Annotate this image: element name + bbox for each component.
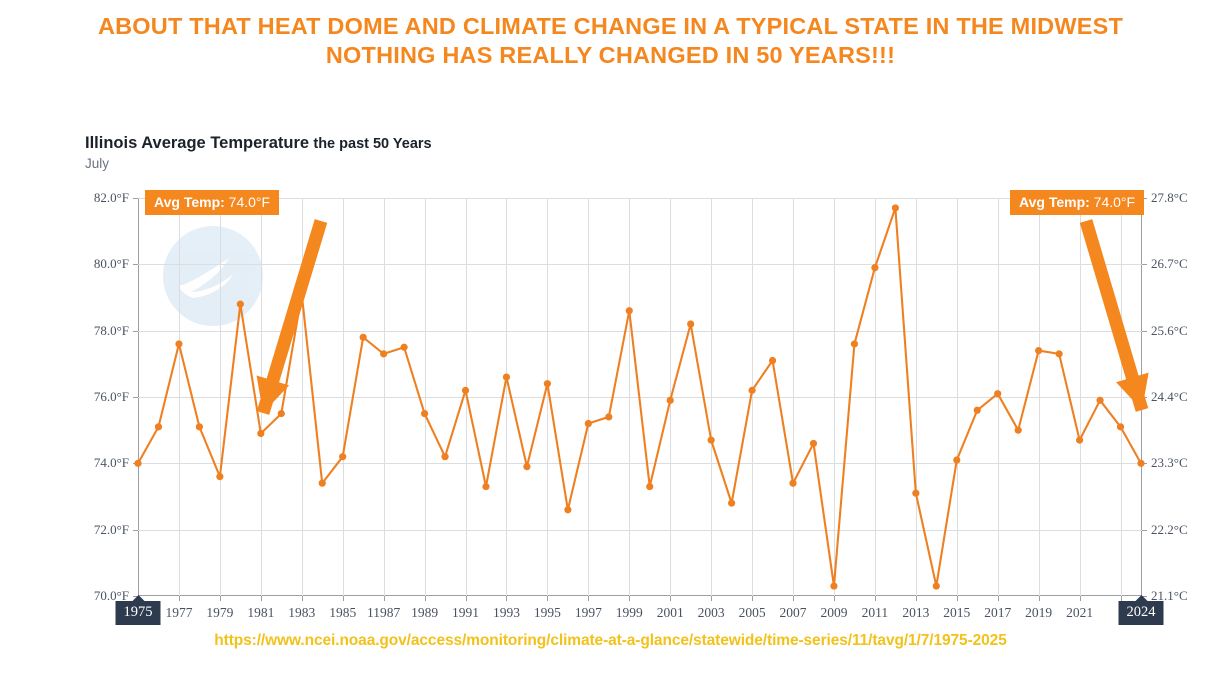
- data-point[interactable]: [585, 420, 592, 427]
- x-highlight-label-text: 2024: [1127, 604, 1156, 620]
- x-tick: [834, 596, 835, 601]
- data-point[interactable]: [544, 380, 551, 387]
- data-point[interactable]: [994, 390, 1001, 397]
- annotation-badge-left: Avg Temp: 74.0°F: [145, 190, 279, 215]
- headline-banner: ABOUT THAT HEAT DOME AND CLIMATE CHANGE …: [0, 0, 1221, 70]
- x-axis-label: 1999: [616, 605, 643, 621]
- x-axis-label: 1989: [411, 605, 438, 621]
- y-axis-label-left: 72.0°F: [94, 522, 129, 538]
- data-point[interactable]: [892, 204, 899, 211]
- x-tick: [302, 596, 303, 601]
- x-axis-label: 2013: [902, 605, 929, 621]
- x-axis-label: 1997: [575, 605, 602, 621]
- x-tick: [793, 596, 794, 601]
- y-axis-label-left: 76.0°F: [94, 389, 129, 405]
- x-tick: [752, 596, 753, 601]
- x-tick: [1080, 596, 1081, 601]
- data-point[interactable]: [360, 334, 367, 341]
- annotation-key: Avg Temp:: [1019, 194, 1090, 210]
- data-point[interactable]: [482, 483, 489, 490]
- data-point[interactable]: [974, 407, 981, 414]
- data-point[interactable]: [257, 430, 264, 437]
- x-axis-label: 1993: [493, 605, 520, 621]
- data-point[interactable]: [278, 410, 285, 417]
- data-point[interactable]: [216, 473, 223, 480]
- data-point[interactable]: [155, 423, 162, 430]
- x-tick: [261, 596, 262, 601]
- data-point[interactable]: [1035, 347, 1042, 354]
- x-axis-label: 1981: [247, 605, 274, 621]
- data-point[interactable]: [319, 480, 326, 487]
- data-point[interactable]: [646, 483, 653, 490]
- data-point[interactable]: [605, 413, 612, 420]
- data-point[interactable]: [953, 456, 960, 463]
- y-tick-right: [1142, 264, 1147, 265]
- chart-title-main: Illinois Average Temperature: [85, 134, 309, 152]
- x-tick: [629, 596, 630, 601]
- data-point[interactable]: [401, 344, 408, 351]
- data-point[interactable]: [564, 506, 571, 513]
- x-tick: [711, 596, 712, 601]
- data-point[interactable]: [380, 350, 387, 357]
- y-axis-label-right: 24.4°C: [1151, 389, 1188, 405]
- data-point[interactable]: [1056, 350, 1063, 357]
- data-point[interactable]: [462, 387, 469, 394]
- x-axis-label: 2007: [780, 605, 807, 621]
- x-tick: [1039, 596, 1040, 601]
- x-axis-label: 2009: [820, 605, 847, 621]
- x-tick: [875, 596, 876, 601]
- x-highlight-label-start: 1975: [116, 601, 161, 625]
- x-axis-label: 1991: [452, 605, 479, 621]
- annotation-arrow-right: [1086, 221, 1149, 410]
- x-tick: [425, 596, 426, 601]
- y-axis-label-left: 74.0°F: [94, 455, 129, 471]
- plot-area: 70.0°F21.1°C72.0°F22.2°C74.0°F23.3°C76.0…: [138, 198, 1142, 596]
- y-axis-label-right: 26.7°C: [1151, 256, 1188, 272]
- chart-title: Illinois Average Temperature the past 50…: [85, 134, 432, 153]
- x-tick: [466, 596, 467, 601]
- data-point[interactable]: [748, 387, 755, 394]
- x-axis-label: 2005: [739, 605, 766, 621]
- x-axis-label: 2015: [943, 605, 970, 621]
- data-point[interactable]: [441, 453, 448, 460]
- data-point[interactable]: [769, 357, 776, 364]
- data-point[interactable]: [667, 397, 674, 404]
- data-point[interactable]: [1117, 423, 1124, 430]
- chart-subtitle: July: [85, 156, 109, 171]
- y-axis-label-left: 80.0°F: [94, 256, 129, 272]
- headline-line-2: NOTHING HAS REALLY CHANGED IN 50 YEARS!!…: [10, 41, 1211, 70]
- x-tick: [670, 596, 671, 601]
- x-tick: [957, 596, 958, 601]
- data-point[interactable]: [1076, 437, 1083, 444]
- data-point[interactable]: [196, 423, 203, 430]
- data-point[interactable]: [237, 301, 244, 308]
- x-tick: [343, 596, 344, 601]
- series-line: [138, 208, 1141, 586]
- x-tick: [179, 596, 180, 601]
- x-highlight-label-end: 2024: [1119, 601, 1164, 625]
- data-point[interactable]: [728, 500, 735, 507]
- y-axis-label-right: 27.8°C: [1151, 190, 1188, 206]
- x-axis-label: 11987: [367, 605, 400, 621]
- data-point[interactable]: [1015, 427, 1022, 434]
- x-axis-label: 2003: [698, 605, 725, 621]
- x-axis-label: 2011: [862, 605, 889, 621]
- data-point[interactable]: [523, 463, 530, 470]
- annotation-key: Avg Temp:: [154, 194, 225, 210]
- data-point[interactable]: [933, 582, 940, 589]
- chart-title-suffix: the past 50 Years: [313, 136, 431, 152]
- data-point[interactable]: [871, 264, 878, 271]
- x-tick: [506, 596, 507, 601]
- x-tick: [916, 596, 917, 601]
- y-axis-label-right: 23.3°C: [1151, 455, 1188, 471]
- x-axis-label: 1979: [206, 605, 233, 621]
- data-point[interactable]: [134, 460, 141, 467]
- data-point[interactable]: [1096, 397, 1103, 404]
- x-tick: [384, 596, 385, 601]
- chart-card: Illinois Average Temperature the past 50…: [0, 118, 1221, 608]
- data-point[interactable]: [687, 320, 694, 327]
- data-point[interactable]: [503, 374, 510, 381]
- x-axis-label: 2021: [1066, 605, 1093, 621]
- data-point[interactable]: [789, 480, 796, 487]
- x-tick: [998, 596, 999, 601]
- annotation-badge-right: Avg Temp: 74.0°F: [1010, 190, 1144, 215]
- x-axis-label: 2019: [1025, 605, 1052, 621]
- y-axis-label-left: 78.0°F: [94, 323, 129, 339]
- annotation-value: 74.0°F: [225, 194, 270, 210]
- annotation-value: 74.0°F: [1090, 194, 1135, 210]
- headline-line-1: ABOUT THAT HEAT DOME AND CLIMATE CHANGE …: [10, 12, 1211, 41]
- data-point[interactable]: [421, 410, 428, 417]
- y-axis-label-right: 22.2°C: [1151, 522, 1188, 538]
- data-point[interactable]: [830, 582, 837, 589]
- x-axis-label: 1983: [288, 605, 315, 621]
- y-tick-right: [1142, 331, 1147, 332]
- temperature-line-series: [138, 198, 1142, 596]
- data-point[interactable]: [708, 437, 715, 444]
- data-point[interactable]: [339, 453, 346, 460]
- x-tick: [588, 596, 589, 601]
- x-tick: [547, 596, 548, 601]
- x-highlight-label-text: 1975: [124, 604, 153, 620]
- data-point[interactable]: [1137, 460, 1144, 467]
- y-tick-right: [1142, 530, 1147, 531]
- x-axis-label: 2001: [657, 605, 684, 621]
- data-point[interactable]: [175, 340, 182, 347]
- data-point[interactable]: [851, 340, 858, 347]
- x-axis-label: 1995: [534, 605, 561, 621]
- data-point[interactable]: [912, 490, 919, 497]
- y-axis-label-right: 25.6°C: [1151, 323, 1188, 339]
- data-point[interactable]: [810, 440, 817, 447]
- source-url[interactable]: https://www.ncei.noaa.gov/access/monitor…: [0, 632, 1221, 650]
- y-axis-label-left: 82.0°F: [94, 190, 129, 206]
- x-tick: [220, 596, 221, 601]
- x-axis-label: 1985: [329, 605, 356, 621]
- x-axis-label: 2017: [984, 605, 1011, 621]
- data-point[interactable]: [626, 307, 633, 314]
- x-axis-label: 1977: [165, 605, 192, 621]
